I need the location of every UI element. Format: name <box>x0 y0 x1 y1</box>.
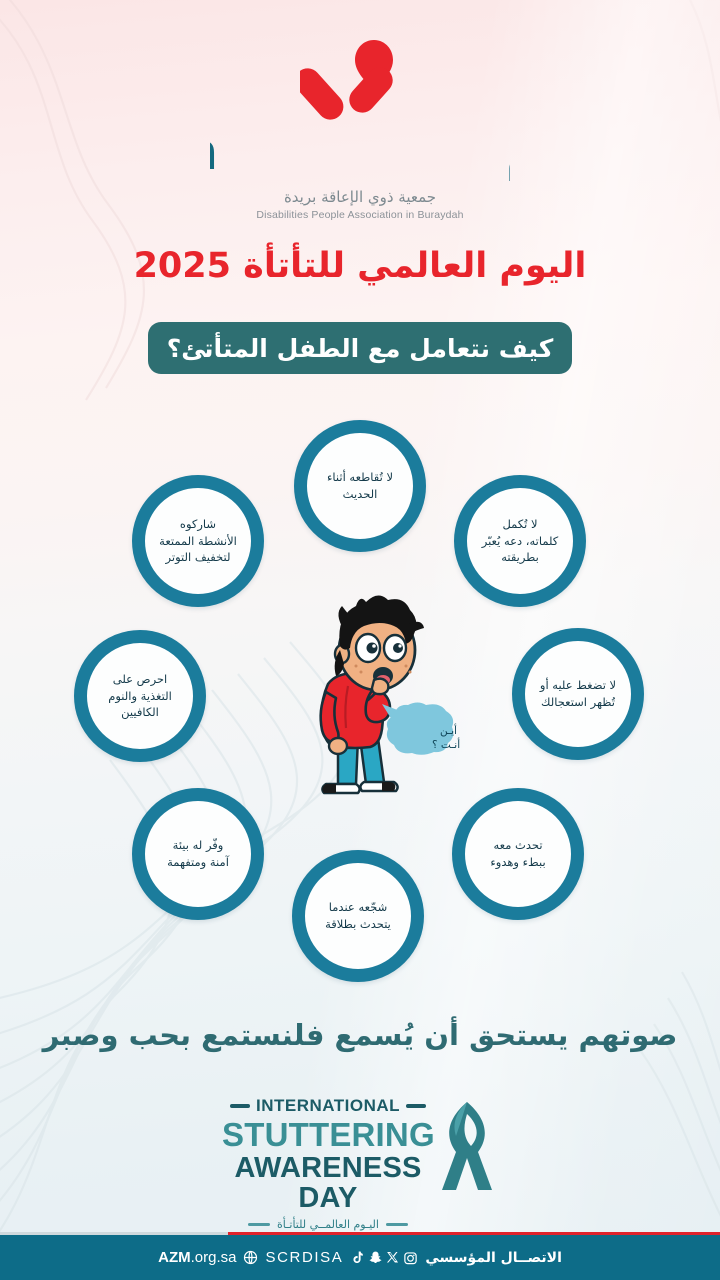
footer-social-icons <box>350 1250 418 1266</box>
page-title: اليوم العالمي للتأتأة 2025 <box>0 246 720 286</box>
svg-text:أنـت ؟: أنـت ؟ <box>432 737 460 751</box>
isad-badge: INTERNATIONAL STUTTERING AWARENESS DAY ا… <box>222 1092 498 1200</box>
isad-kicker: INTERNATIONAL <box>256 1096 400 1116</box>
advice-bubble-label: تحدث معه ببطء وهدوء <box>483 837 552 870</box>
isad-line1: STUTTERING <box>222 1118 434 1151</box>
tiktok-icon[interactable] <box>350 1250 365 1266</box>
advice-bubble-label: وفّر له بيئة آمنة ومتفهمة <box>160 837 236 870</box>
svg-text:أ - أ - أيـن: أ - أ - أيـن <box>440 723 460 737</box>
svg-text:azm: azm <box>210 124 218 181</box>
footer-bar: الاتصــال المؤسسي SCRDISA AZM.org.sa <box>0 1235 720 1280</box>
advice-bubble-safe-environment[interactable]: وفّر له بيئة آمنة ومتفهمة <box>132 788 264 920</box>
footer-website-bold: AZM <box>158 1249 191 1266</box>
advice-bubble-share-fun-activities[interactable]: شاركوه الأنشطة الممتعة لتخفيف التوتر <box>132 475 264 607</box>
advice-bubble-label: لا تُقاطعه أثناء الحديث <box>320 469 400 502</box>
azm-wordmark: عزم azm <box>210 124 510 184</box>
snapchat-icon[interactable] <box>368 1250 383 1266</box>
isad-arabic: اليـوم العالمــي للتأتـأة <box>277 1218 379 1231</box>
isad-rule2-right-icon <box>386 1223 408 1226</box>
globe-icon <box>243 1250 258 1265</box>
boy-speech-bubble: أ - أ - أيـن أنـت ؟ <box>382 700 460 764</box>
isad-arabic-row: اليـوم العالمــي للتأتـأة <box>222 1218 434 1231</box>
awareness-ribbon-icon <box>436 1096 498 1196</box>
footer-social-handle[interactable]: SCRDISA <box>265 1249 343 1266</box>
footer-website-rest: .org.sa <box>191 1249 237 1266</box>
subtitle-text: كيف نتعامل مع الطفل المتأتئ؟ <box>167 334 554 363</box>
svg-text:عزم: عزم <box>506 124 510 182</box>
advice-bubble-label: شاركوه الأنشطة الممتعة لتخفيف التوتر <box>152 516 244 566</box>
isad-rule-right-icon <box>406 1104 426 1108</box>
poster-canvas: عزم azm جمعية ذوي الإعاقة بريدة Disabili… <box>0 0 720 1280</box>
azm-heart-people-logo-icon <box>300 38 420 122</box>
isad-kicker-row: INTERNATIONAL <box>222 1096 434 1116</box>
subtitle-banner: كيف نتعامل مع الطفل المتأتئ؟ <box>148 322 572 374</box>
advice-bubble-label: احرص على التغذية والنوم الكافيين <box>101 671 179 721</box>
advice-bubble-do-not-interrupt[interactable]: لا تُقاطعه أثناء الحديث <box>294 420 426 552</box>
isad-line2: AWARENESS DAY <box>222 1153 434 1214</box>
logo-english-subtitle: Disabilities People Association in Buray… <box>0 209 720 221</box>
closing-slogan: صوتهم يستحق أن يُسمع فلنستمع بحب وصبر <box>0 1018 720 1052</box>
organization-logo: عزم azm جمعية ذوي الإعاقة بريدة Disabili… <box>0 38 720 221</box>
isad-text-block: INTERNATIONAL STUTTERING AWARENESS DAY ا… <box>222 1092 434 1231</box>
advice-bubble-do-not-finish-words[interactable]: لا تُكمل كلماته، دعه يُعبّر بطريقته <box>454 475 586 607</box>
footer-arabic-label: الاتصــال المؤسسي <box>425 1250 562 1266</box>
isad-rule-left-icon <box>230 1104 250 1108</box>
advice-bubble-label: لا تُكمل كلماته، دعه يُعبّر بطريقته <box>475 516 566 566</box>
footer-website[interactable]: AZM.org.sa <box>158 1249 236 1266</box>
isad-rule2-left-icon <box>248 1223 270 1226</box>
logo-arabic-subtitle: جمعية ذوي الإعاقة بريدة <box>0 188 720 206</box>
advice-bubble-nutrition-and-sleep[interactable]: احرص على التغذية والنوم الكافيين <box>74 630 206 762</box>
x-twitter-icon[interactable] <box>386 1250 400 1266</box>
advice-bubble-label: لا تضغط عليه أو تُظهر استعجالك <box>533 677 623 710</box>
instagram-icon[interactable] <box>403 1250 418 1266</box>
advice-bubble-do-not-pressure[interactable]: لا تضغط عليه أو تُظهر استعجالك <box>512 628 644 760</box>
advice-bubble-encourage-fluency[interactable]: شجّعه عندما يتحدث بطلاقة <box>292 850 424 982</box>
advice-bubble-label: شجّعه عندما يتحدث بطلاقة <box>318 899 398 932</box>
